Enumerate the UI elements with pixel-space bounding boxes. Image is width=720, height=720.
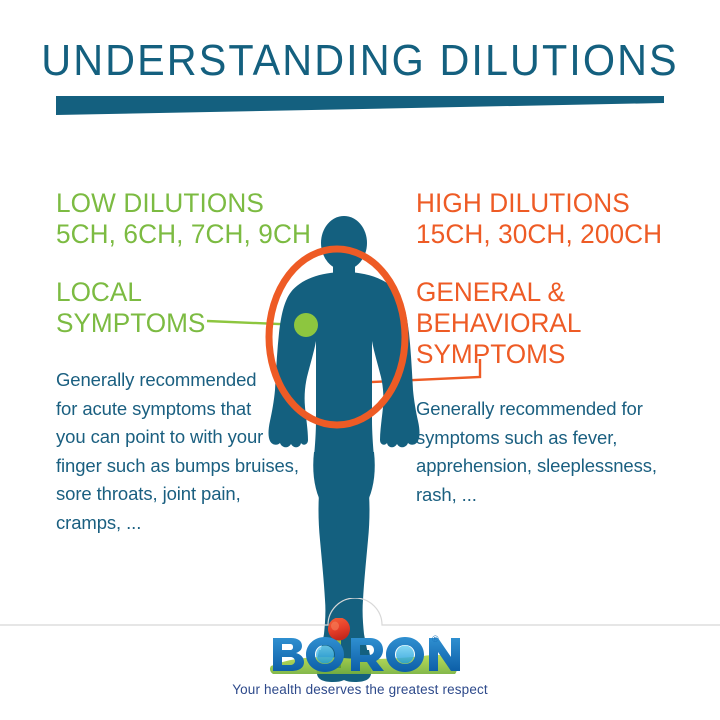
local-symptom-dot bbox=[294, 313, 318, 337]
boiron-logo-mark bbox=[265, 618, 465, 680]
brand-tagline: Your health deserves the greatest respec… bbox=[0, 682, 720, 697]
infographic-canvas: UNDERSTANDING DILUTIONS LOW DILUTIONS 5C… bbox=[0, 0, 720, 720]
general-behavioral-symptoms-label: GENERAL & BEHAVIORAL SYMPTOMS bbox=[416, 277, 581, 370]
title-underline-wedge bbox=[56, 94, 664, 116]
boiron-logo bbox=[265, 618, 465, 680]
high-dilutions-heading: HIGH DILUTIONS 15CH, 30CH, 200CH bbox=[416, 188, 662, 250]
green-leader-line bbox=[207, 321, 302, 325]
page-title: UNDERSTANDING DILUTIONS bbox=[22, 36, 699, 86]
local-symptoms-label: LOCAL SYMPTOMS bbox=[56, 277, 205, 339]
registered-trademark-icon: ® bbox=[432, 634, 439, 644]
low-dilutions-heading: LOW DILUTIONS 5CH, 6CH, 7CH, 9CH bbox=[56, 188, 311, 250]
general-symptoms-description: Generally recommended for symptoms such … bbox=[416, 395, 686, 509]
local-symptoms-description: Generally recommended for acute symptoms… bbox=[56, 366, 326, 537]
poppy-flower-icon bbox=[328, 618, 350, 641]
